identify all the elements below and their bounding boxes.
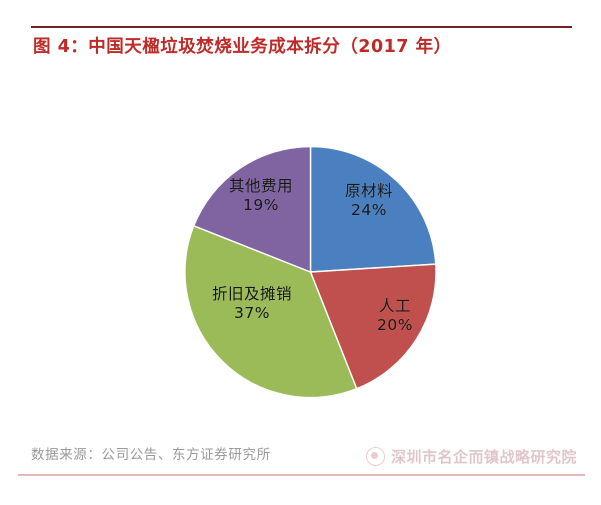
pie-label-labor-name: 人工 bbox=[356, 297, 434, 316]
pie-label-raw-material-value: 24% bbox=[317, 201, 421, 220]
footer-divider bbox=[18, 474, 585, 476]
pie-label-other-expenses-name: 其他费用 bbox=[208, 177, 314, 196]
pie-label-raw-material: 原材料 24% bbox=[317, 182, 421, 220]
pie-label-depreciation: 折旧及摊销 37% bbox=[180, 285, 324, 323]
source-note: 数据来源：公司公告、东方证券研究所 bbox=[31, 443, 271, 463]
pie-label-depreciation-value: 37% bbox=[180, 304, 324, 323]
chart-page: 图 4：中国天楹垃圾焚烧业务成本拆分（2017 年） 原材料 24% 人工 20… bbox=[0, 0, 601, 505]
pie-label-labor: 人工 20% bbox=[356, 297, 434, 335]
pie-label-other-expenses-value: 19% bbox=[208, 196, 314, 215]
pie-chart: 原材料 24% 人工 20% 折旧及摊销 37% 其他费用 19% bbox=[0, 0, 601, 505]
pie-chart-svg bbox=[0, 0, 601, 505]
pie-label-other-expenses: 其他费用 19% bbox=[208, 177, 314, 215]
pie-label-depreciation-name: 折旧及摊销 bbox=[180, 285, 324, 304]
pie-label-raw-material-name: 原材料 bbox=[317, 182, 421, 201]
pie-label-labor-value: 20% bbox=[356, 316, 434, 335]
